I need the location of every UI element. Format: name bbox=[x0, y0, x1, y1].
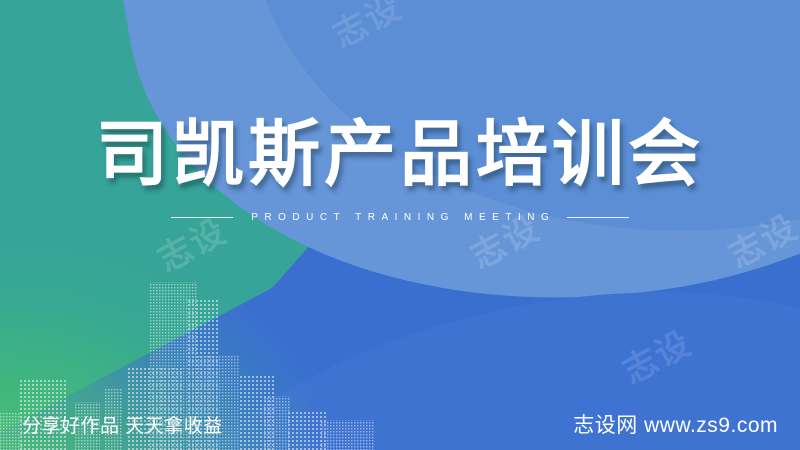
footer-bar: 分享好作品 天天拿收益 志设网 www.zs9.com bbox=[0, 398, 800, 450]
watermark: 志设 bbox=[323, 0, 410, 57]
subtitle-text: PRODUCT TRAINING MEETING bbox=[245, 212, 555, 223]
footer-website: 志设网 www.zs9.com bbox=[573, 409, 778, 439]
subtitle-row: PRODUCT TRAINING MEETING bbox=[0, 212, 800, 223]
main-title: 司凯斯产品培训会 bbox=[0, 118, 800, 190]
subtitle-rule-left bbox=[171, 217, 233, 218]
subtitle-rule-right bbox=[567, 217, 629, 218]
presentation-slide: 志设 志设 志设 志设 志设 司凯斯产品培训会 PRODUCT TRAINING… bbox=[0, 0, 800, 450]
footer-slogan: 分享好作品 天天拿收益 bbox=[22, 411, 223, 438]
background-teal-base bbox=[0, 0, 800, 450]
title-block: 司凯斯产品培训会 PRODUCT TRAINING MEETING bbox=[0, 118, 800, 223]
watermark: 志设 bbox=[613, 316, 700, 393]
background-blue-wedge bbox=[0, 0, 800, 450]
